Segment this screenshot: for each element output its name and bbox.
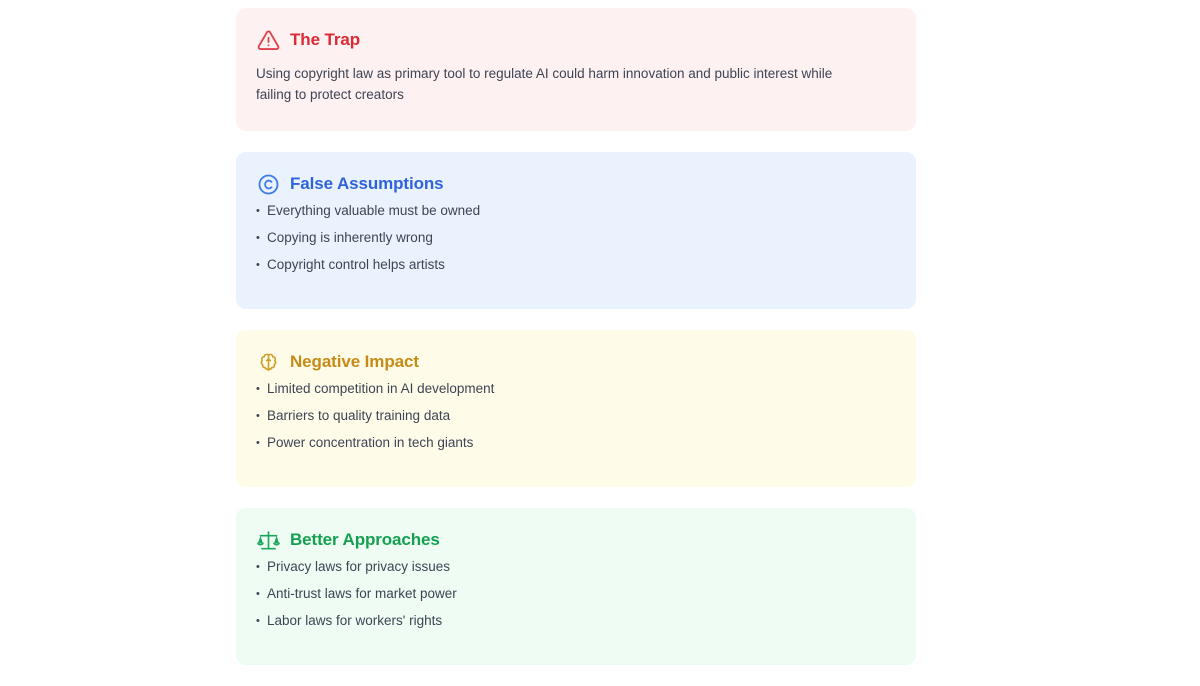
- page-root: The Trap Using copyright law as primary …: [0, 0, 1200, 675]
- list-item: Everything valuable must be owned: [256, 202, 896, 220]
- list-item: Barriers to quality training data: [256, 407, 896, 425]
- card-title: The Trap: [290, 29, 360, 51]
- bullet-list: Limited competition in AI development Ba…: [256, 380, 896, 452]
- list-item: Privacy laws for privacy issues: [256, 558, 896, 576]
- warning-triangle-icon: [256, 28, 280, 52]
- card-better-approaches: Better Approaches Privacy laws for priva…: [236, 508, 916, 665]
- card-title: Negative Impact: [290, 351, 419, 373]
- bullet-list: Everything valuable must be owned Copyin…: [256, 202, 896, 274]
- card-header: False Assumptions: [256, 172, 896, 196]
- card-title: False Assumptions: [290, 173, 444, 195]
- card-header: Better Approaches: [256, 528, 896, 552]
- list-item: Anti-trust laws for market power: [256, 585, 896, 603]
- brain-icon: [256, 350, 280, 374]
- list-item: Copyright control helps artists: [256, 256, 896, 274]
- scales-icon: [256, 528, 280, 552]
- list-item: Copying is inherently wrong: [256, 229, 896, 247]
- card-the-trap: The Trap Using copyright law as primary …: [236, 8, 916, 131]
- bullet-list: Privacy laws for privacy issues Anti-tru…: [256, 558, 896, 630]
- card-title: Better Approaches: [290, 529, 440, 551]
- card-paragraph: Using copyright law as primary tool to r…: [256, 64, 866, 105]
- card-negative-impact: Negative Impact Limited competition in A…: [236, 330, 916, 487]
- copyright-icon: [256, 172, 280, 196]
- list-item: Limited competition in AI development: [256, 380, 896, 398]
- card-header: The Trap: [256, 28, 896, 52]
- list-item: Power concentration in tech giants: [256, 434, 896, 452]
- card-header: Negative Impact: [256, 350, 896, 374]
- card-false-assumptions: False Assumptions Everything valuable mu…: [236, 152, 916, 309]
- card-stack: The Trap Using copyright law as primary …: [236, 8, 916, 686]
- list-item: Labor laws for workers' rights: [256, 612, 896, 630]
